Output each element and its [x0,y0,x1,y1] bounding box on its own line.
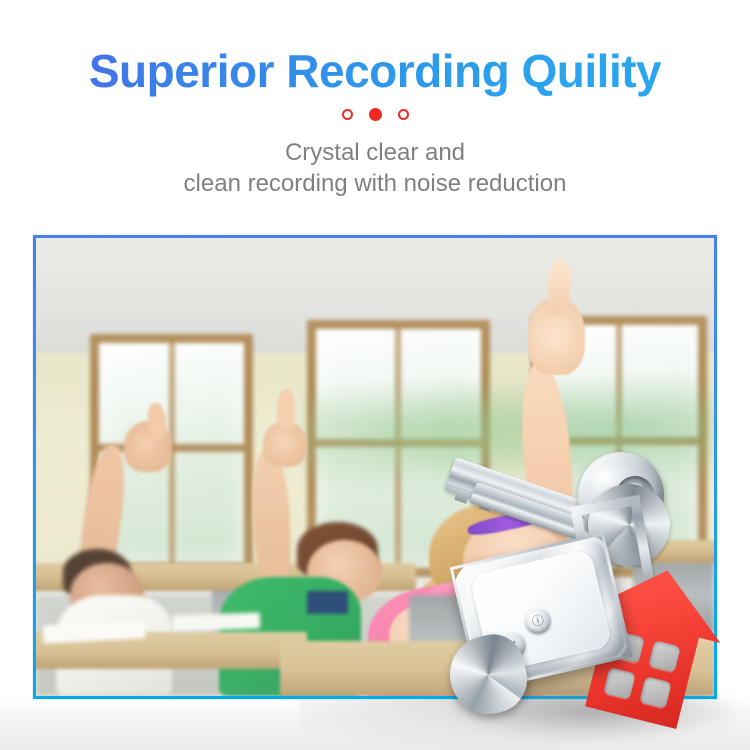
dot-separator [0,108,750,121]
subtitle: Crystal clear and clean recording with n… [0,137,750,199]
dot-hollow-left [342,109,353,120]
product-keychain-recorder: ✕ ⓘ [430,440,750,740]
paper-sheet-center [171,612,260,631]
subtitle-line-2: clean recording with noise reduction [0,168,750,199]
dot-hollow-right [398,109,409,120]
subtitle-line-1: Crystal clear and [0,137,750,168]
child-green-collar [307,591,348,614]
marketing-banner-page: Superior Recording Quility Crystal clear… [0,0,750,750]
page-title: Superior Recording Quility [0,44,750,98]
dot-filled-center [369,108,382,121]
header-section: Superior Recording Quility Crystal clear… [0,0,750,232]
